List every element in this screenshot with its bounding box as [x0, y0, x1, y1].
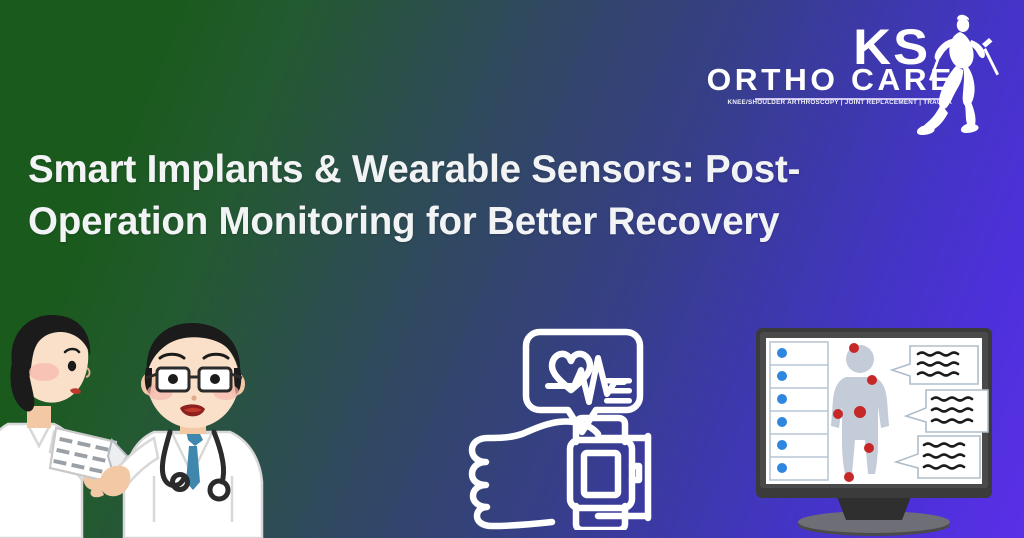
blog-hero-banner: KS ORTHO CARE KNEE/SHOULDER ARTHROSCOPY … — [0, 0, 1024, 538]
female-doctor — [0, 315, 106, 538]
runner-silhouette-icon — [916, 14, 1002, 136]
monitor-list-panel — [770, 342, 828, 480]
page-title: Smart Implants & Wearable Sensors: Post-… — [28, 144, 908, 249]
patient-monitoring-screen-illustration — [742, 322, 1006, 538]
bubble-text-lines — [604, 378, 632, 404]
ks-ortho-care-logo[interactable]: KS ORTHO CARE KNEE/SHOULDER ARTHROSCOPY … — [754, 10, 1004, 130]
male-doctor — [90, 323, 262, 538]
wrist-smartwatch-vitals-icon — [448, 320, 658, 530]
two-doctors-consulting-illustration — [0, 306, 280, 538]
watch-screen — [584, 453, 618, 495]
